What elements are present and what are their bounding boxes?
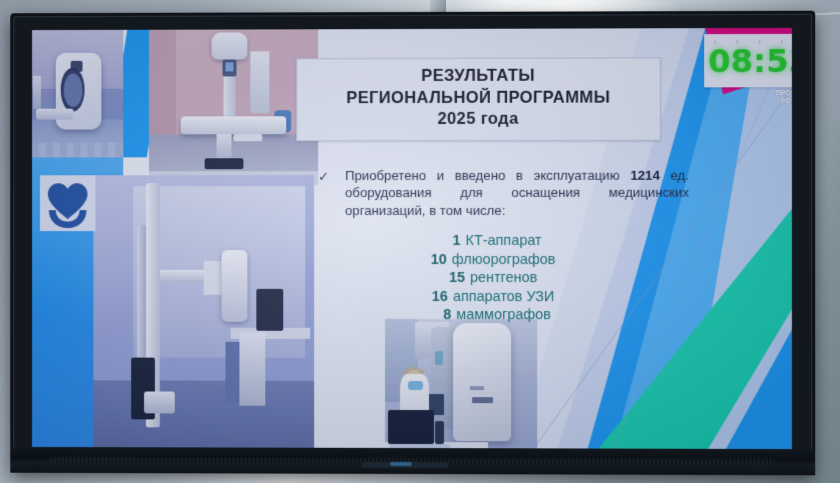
equipment-label: КТ-аппарат bbox=[466, 232, 542, 251]
page-title: РЕЗУЛЬТАТЫ РЕГИОНАЛЬНОЙ ПРОГРАММЫ 2025 г… bbox=[297, 58, 660, 130]
equipment-count: 16 bbox=[426, 288, 448, 307]
ct-scanner-photo bbox=[32, 30, 123, 158]
television: РЕЗУЛЬТАТЫ РЕГИОНАЛЬНОЙ ПРОГРАММЫ 2025 г… bbox=[10, 11, 815, 476]
equipment-count: 1 bbox=[439, 232, 461, 251]
equipment-label: маммографов bbox=[456, 306, 551, 325]
mri-operator-photo-inner bbox=[385, 319, 537, 453]
title-line-3: 2025 года bbox=[437, 110, 518, 128]
bullet-paragraph: Приобретено и введено в эксплуатацию 121… bbox=[318, 167, 689, 220]
title-line-2: РЕГИОНАЛЬНОЙ ПРОГРАММЫ bbox=[346, 88, 610, 107]
clock-pips bbox=[714, 40, 792, 44]
list-item: 8 маммографов bbox=[360, 306, 621, 325]
list-item: 16 аппаратов УЗИ bbox=[360, 288, 621, 307]
bullet-bold-number: 1214 bbox=[630, 168, 660, 183]
equipment-label: рентгенов bbox=[470, 269, 537, 288]
bullet-text-before: Приобретено и введено в эксплуатацию bbox=[345, 168, 630, 183]
tv-screen: РЕЗУЛЬТАТЫ РЕГИОНАЛЬНОЙ ПРОГРАММЫ 2025 г… bbox=[32, 28, 792, 454]
tv-indicator-led bbox=[390, 462, 412, 466]
equipment-list: 1 КТ-аппарат 10 флюорографов 15 рентгено… bbox=[360, 232, 621, 325]
slide-title-card: РЕЗУЛЬТАТЫ РЕГИОНАЛЬНОЙ ПРОГРАММЫ 2025 г… bbox=[296, 57, 661, 141]
heart-health-logo-svg bbox=[40, 175, 95, 231]
bullet-block: ✓ Приобретено и введено в эксплуатацию 1… bbox=[318, 167, 689, 220]
mri-operator-photo bbox=[385, 319, 537, 453]
equipment-count: 15 bbox=[443, 269, 465, 288]
equipment-count: 10 bbox=[425, 251, 447, 270]
screenshot-root: РЕЗУЛЬТАТЫ РЕГИОНАЛЬНОЙ ПРОГРАММЫ 2025 г… bbox=[0, 0, 840, 483]
branding-line-2: РОССИИ bbox=[745, 99, 791, 108]
equipment-count: 8 bbox=[429, 306, 451, 325]
xray-room-photo-inner bbox=[149, 29, 318, 185]
clock-time: 08:53 bbox=[708, 41, 792, 79]
clock-widget: 08:53 bbox=[704, 34, 792, 88]
list-item: 1 КТ-аппарат bbox=[360, 232, 621, 251]
radiography-room-photo bbox=[93, 175, 314, 453]
heart-health-logo bbox=[40, 175, 95, 231]
equipment-label: аппаратов УЗИ bbox=[453, 288, 554, 307]
equipment-label: флюорографов bbox=[452, 251, 556, 270]
xray-room-photo bbox=[149, 29, 318, 185]
checkmark-icon: ✓ bbox=[318, 169, 329, 185]
title-line-1: РЕЗУЛЬТАТЫ bbox=[421, 67, 535, 85]
radiography-room-photo-inner bbox=[93, 175, 314, 453]
list-item: 10 флюорографов bbox=[360, 251, 621, 270]
ct-scanner-photo-inner bbox=[32, 30, 123, 158]
list-item: 15 рентгенов bbox=[360, 269, 621, 288]
national-projects-branding: ПРОЕКТЫ РОССИИ bbox=[745, 90, 791, 118]
